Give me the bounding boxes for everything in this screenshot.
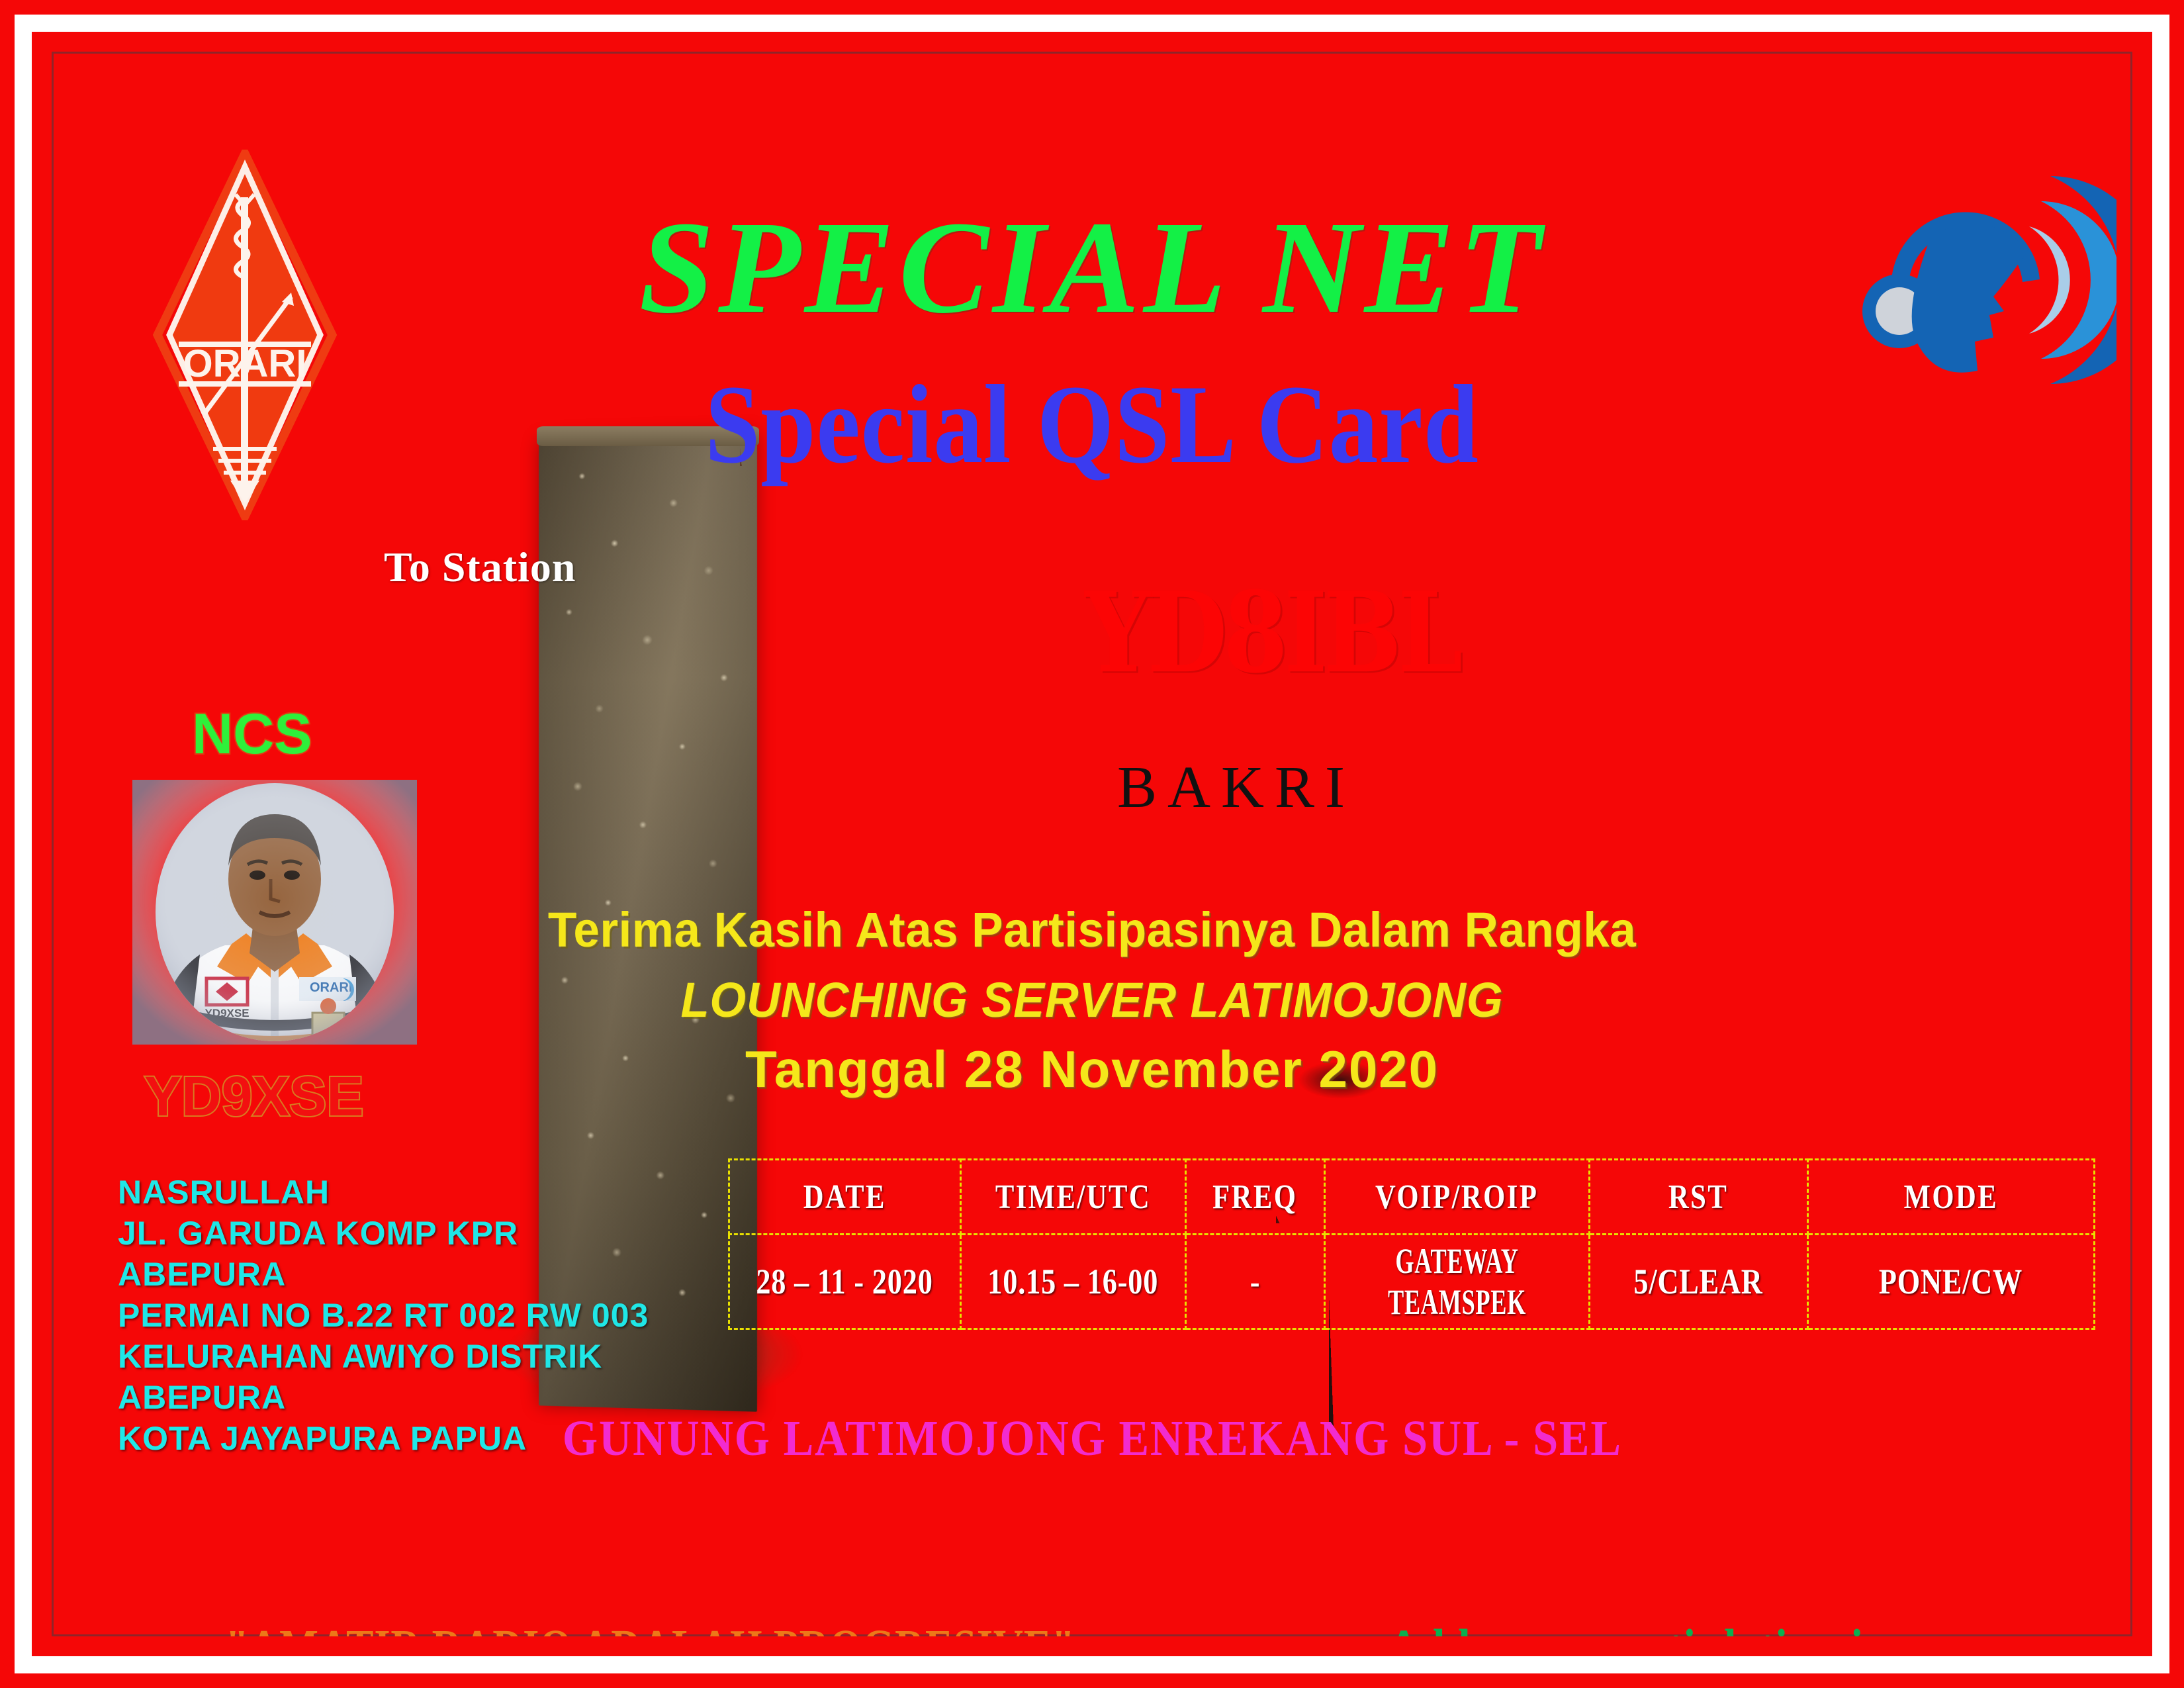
operator-name: BAKRI xyxy=(1117,753,1355,821)
table-cell-mode: PONE/CW xyxy=(1808,1235,2095,1329)
to-station-label: To Station xyxy=(384,543,576,592)
page-title-special-net: SPECIAL NET xyxy=(52,192,2132,344)
address-line: JL. GARUDA KOMP KPR xyxy=(118,1213,649,1254)
table-cell-date: 28 – 11 - 2020 xyxy=(729,1235,961,1329)
table-header-date: DATE xyxy=(729,1160,961,1235)
ncs-label: NCS xyxy=(192,702,312,767)
qsl-card: ORARI SPECIAL NE xyxy=(0,0,2184,1688)
table-header-voip: VOIP/ROIP xyxy=(1325,1160,1590,1235)
ncs-callsign: YD9XSE xyxy=(144,1064,364,1129)
event-thanks-text: Terima Kasih Atas Partisipasinya Dalam R… xyxy=(548,902,1636,958)
event-date-text: Tanggal 28 November 2020 xyxy=(745,1039,1439,1100)
table-header-rst: RST xyxy=(1590,1160,1808,1235)
card-photo-area: ORARI SPECIAL NE xyxy=(52,52,2132,1636)
address-line: PERMAI NO B.22 RT 002 RW 003 xyxy=(118,1295,649,1336)
station-callsign: YD8IBL xyxy=(1085,567,1459,698)
table-cell-freq: - xyxy=(1186,1235,1325,1329)
address-line: KELURAHAN AWIYO DISTRIK xyxy=(118,1336,649,1377)
ncs-operator-photo: YD9XSE ORARI xyxy=(132,780,417,1045)
event-name-text: LOUNCHING SERVER LATIMOJONG xyxy=(681,972,1504,1028)
address-line: NASRULLAH xyxy=(118,1172,649,1213)
table-cell-time: 10.15 – 16-00 xyxy=(961,1235,1186,1329)
footer-web-address: Address : amatir.latimojong.com xyxy=(1336,1618,2079,1636)
table-header-mode: MODE xyxy=(1808,1160,2095,1235)
table-header-freq: FREQ xyxy=(1186,1160,1325,1235)
table-cell-voip: GATEWAYTEAMSPEK xyxy=(1325,1235,1590,1329)
qso-log-table: DATE TIME/UTC FREQ VOIP/ROIP RST MODE 28… xyxy=(728,1158,2095,1330)
page-subtitle-special-qsl-card: Special QSL Card xyxy=(177,360,2008,489)
table-cell-voip-line: TEAMSPEK xyxy=(1388,1282,1526,1323)
footer-motto: "AMATIR RADIO ADALAH PROGRESIVE" xyxy=(132,1619,1168,1636)
table-cell-voip-line: GATEWAY xyxy=(1395,1241,1518,1282)
location-line: GUNUNG LATIMOJONG ENREKANG SUL - SEL xyxy=(52,1410,2132,1468)
table-header-row: DATE TIME/UTC FREQ VOIP/ROIP RST MODE xyxy=(729,1160,2095,1235)
address-line: ABEPURA xyxy=(118,1254,649,1295)
footer-motto-text: "AMATIR RADIO ADALAH PROGRESIVE" xyxy=(226,1619,1075,1636)
footer-web-text: Address : amatir.latimojong.com xyxy=(1388,1618,2027,1636)
location-text: GUNUNG LATIMOJONG ENREKANG SUL - SEL xyxy=(563,1410,1622,1468)
table-header-time: TIME/UTC xyxy=(961,1160,1186,1235)
table-cell-rst: 5/CLEAR xyxy=(1590,1235,1808,1329)
table-row: 28 – 11 - 2020 10.15 – 16-00 - GATEWAYTE… xyxy=(729,1235,2095,1329)
